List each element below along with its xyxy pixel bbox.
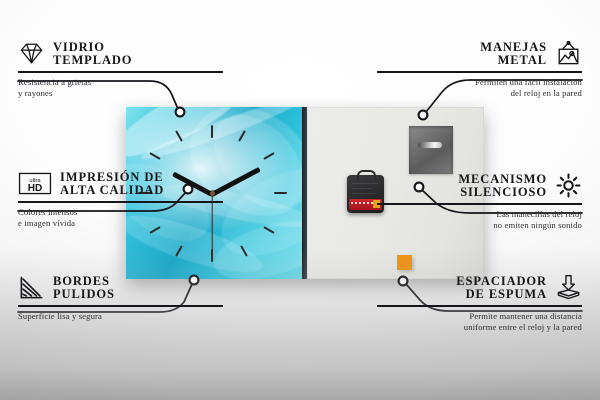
feature-description: Colores intensos e imagen vívida	[18, 207, 223, 230]
feature-espaciador-espuma: ESPACIADOR DE ESPUMA Permite mantener un…	[377, 274, 582, 334]
polished-edge-icon	[18, 274, 45, 301]
feature-description: Permite mantener una distancia uniforme …	[377, 311, 582, 334]
diamond-icon	[18, 40, 45, 67]
wall-frame-icon	[555, 40, 582, 67]
clock-tick	[211, 125, 213, 138]
feature-title-line1: BORDES	[53, 275, 115, 288]
feature-title-line1: ESPACIADOR	[456, 275, 547, 288]
feature-title-line1: MECANISMO	[458, 173, 547, 186]
feature-description: Permiten una fácil instalación del reloj…	[377, 77, 582, 100]
foam-spacer	[397, 255, 412, 270]
hanger-slot	[418, 142, 442, 148]
feature-impresion-alta-calidad: ultra HD IMPRESIÓN DE ALTA CALIDAD Color…	[18, 170, 223, 230]
metal-hanger-plate	[409, 126, 453, 174]
feature-divider	[18, 305, 223, 307]
feature-divider	[377, 203, 582, 205]
feature-divider	[18, 201, 223, 203]
feature-title-line2: METAL	[480, 54, 547, 67]
feature-description: Las manecillas del reloj no emiten ningú…	[377, 209, 582, 232]
feature-description: Resistencia a grietas y rayones	[18, 77, 223, 100]
mechanism-hook	[357, 170, 376, 180]
feature-title-line2: SILENCIOSO	[458, 186, 547, 199]
feature-vidrio-templado: VIDRIO TEMPLADO Resistencia a grietas y …	[18, 40, 223, 100]
feature-title-line2: PULIDOS	[53, 288, 115, 301]
battery-stripe	[351, 202, 373, 204]
gear-icon	[555, 172, 582, 199]
foam-spacer-icon	[555, 274, 582, 301]
feature-title-line2: DE ESPUMA	[456, 288, 547, 301]
feature-title-line2: ALTA CALIDAD	[60, 184, 164, 197]
feature-manejas-metal: MANEJAS METAL Permiten una fácil instala…	[377, 40, 582, 100]
ultra-hd-icon: ultra HD	[18, 170, 52, 197]
clock-tick	[274, 192, 287, 194]
feature-divider	[377, 71, 582, 73]
feature-title-line1: IMPRESIÓN DE	[60, 171, 164, 184]
feature-divider	[377, 305, 582, 307]
feature-divider	[18, 71, 223, 73]
feature-title-line2: TEMPLADO	[53, 54, 132, 67]
feature-title-line1: MANEJAS	[480, 41, 547, 54]
feature-bordes-pulidos: BORDES PULIDOS Superficie lisa y segura	[18, 274, 223, 322]
infographic-canvas: VIDRIO TEMPLADO Resistencia a grietas y …	[0, 0, 600, 400]
feature-title-line1: VIDRIO	[53, 41, 132, 54]
ultra-hd-bottom-text: HD	[28, 183, 43, 194]
feature-mecanismo-silencioso: MECANISMO SILENCIOSO Las manecillas del …	[377, 172, 582, 232]
feature-description: Superficie lisa y segura	[18, 311, 223, 323]
